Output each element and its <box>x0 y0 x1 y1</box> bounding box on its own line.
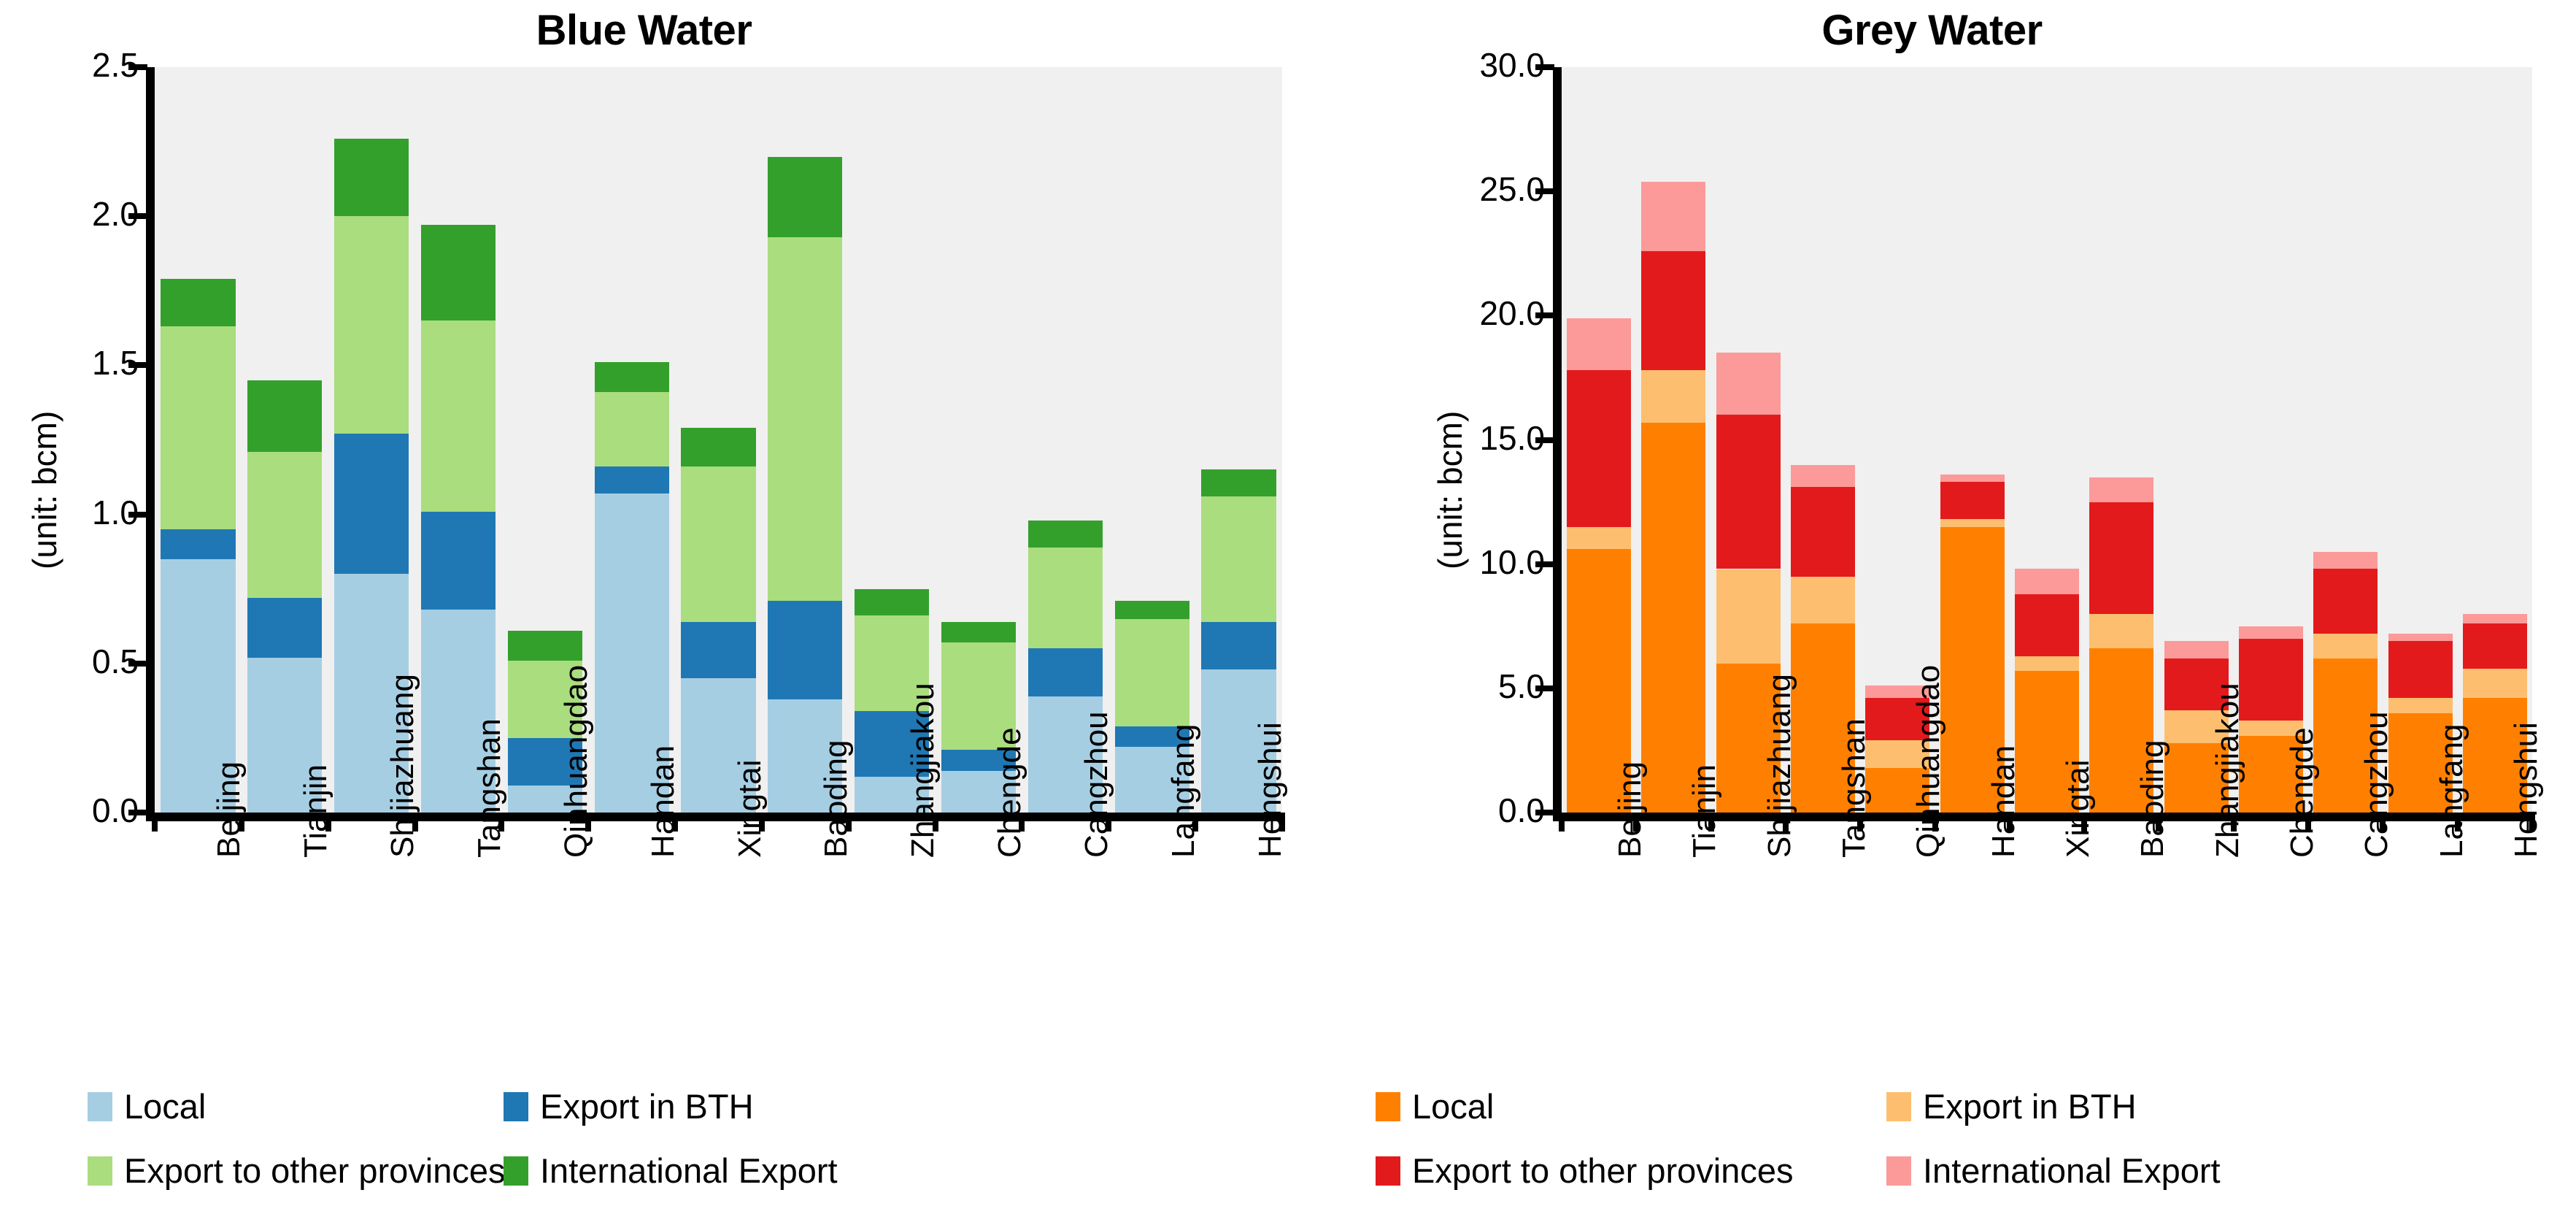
chart-title-blue-water: Blue Water <box>0 6 1288 55</box>
bar-beijing[interactable] <box>161 67 235 813</box>
x-axis-label-cangzhou: Cangzhou <box>1079 711 1115 858</box>
x-axis-label-baoding: Baoding <box>818 740 855 858</box>
bar-segment-international-export[interactable] <box>421 225 495 320</box>
x-axis-label-qinhuangdao: Qinhuangdao <box>558 665 595 858</box>
bar-hengshui[interactable] <box>1201 67 1276 813</box>
bar-tianjin[interactable] <box>247 67 322 813</box>
bar-segment-international-export[interactable] <box>1641 182 1705 251</box>
legend-label: Local <box>124 1089 206 1124</box>
x-axis-label-langfang: Langfang <box>2434 723 2470 858</box>
y-axis-tick-label: 2.0 <box>0 194 139 234</box>
bar-segment-international-export[interactable] <box>855 589 929 616</box>
legend-label: Export to other provinces <box>1412 1153 1794 1188</box>
bar-segment-export-in-bth[interactable] <box>1567 527 1631 550</box>
bar-segment-export-in-bth[interactable] <box>247 598 322 658</box>
bar-xingtai[interactable] <box>2015 67 2079 813</box>
bar-segment-international-export[interactable] <box>2089 477 2153 502</box>
x-axis-label-tianjin: Tianjin <box>298 764 334 858</box>
legend-label: Export in BTH <box>1923 1089 2137 1124</box>
x-axis-label-tianjin: Tianjin <box>1686 764 1723 858</box>
y-axis-spine <box>146 67 155 821</box>
legend-swatch-icon <box>1886 1156 1911 1186</box>
bar-segment-export-in-bth[interactable] <box>595 466 669 494</box>
x-axis-label-hengshui: Hengshui <box>1252 722 1289 858</box>
figure-root: Blue Water (unit: bcm) 0.00.51.01.52.02.… <box>0 0 2576 1225</box>
bar-segment-export-to-other-provinces[interactable] <box>1716 415 1781 569</box>
bar-segment-international-export[interactable] <box>2463 614 2527 624</box>
x-axis-label-qinhuangdao: Qinhuangdao <box>1910 665 1947 858</box>
bar-segment-export-to-other-provinces[interactable] <box>247 452 322 598</box>
y-axis-tick-label: 1.0 <box>0 493 139 532</box>
bar-segment-export-to-other-provinces[interactable] <box>161 326 235 529</box>
bar-segment-export-to-other-provinces[interactable] <box>421 320 495 511</box>
y-axis-tick-label: 5.0 <box>1326 667 1545 706</box>
legend-swatch-icon <box>1376 1156 1400 1186</box>
x-axis-label-chengde: Chengde <box>2284 727 2321 858</box>
x-axis-label-cangzhou: Cangzhou <box>2359 711 2395 858</box>
bar-segment-local[interactable] <box>1641 423 1705 813</box>
bar-segment-export-in-bth[interactable] <box>1028 648 1103 696</box>
y-axis-spine <box>1553 67 1562 821</box>
bar-segment-export-in-bth[interactable] <box>768 601 842 699</box>
bar-segment-export-to-other-provinces[interactable] <box>1791 487 1855 577</box>
bar-cangzhou[interactable] <box>1028 67 1103 813</box>
legend-item-local[interactable]: Local <box>1376 1089 1494 1124</box>
bar-segment-export-to-other-provinces[interactable] <box>2313 569 2378 633</box>
bar-segment-export-to-other-provinces[interactable] <box>2089 502 2153 614</box>
chart-panel-blue-water: Blue Water (unit: bcm) 0.00.51.01.52.02.… <box>0 0 1288 1225</box>
bar-segment-export-in-bth[interactable] <box>2089 614 2153 649</box>
legend-item-export-to-other-provinces[interactable]: Export to other provinces <box>1376 1153 1794 1188</box>
x-axis-label-xingtai: Xingtai <box>2060 759 2097 858</box>
bar-segment-international-export[interactable] <box>941 622 1016 643</box>
x-axis-label-zhangjiakou: Zhangjiakou <box>2210 683 2246 858</box>
bar-chengde[interactable] <box>941 67 1016 813</box>
legend-swatch-icon <box>88 1092 112 1121</box>
x-axis-label-shijiazhuang: Shijiazhuang <box>1762 674 1798 858</box>
bar-segment-export-in-bth[interactable] <box>1940 519 2005 526</box>
bar-handan[interactable] <box>595 67 669 813</box>
bar-segment-international-export[interactable] <box>681 428 755 466</box>
bar-segment-export-in-bth[interactable] <box>1791 577 1855 624</box>
bar-segment-international-export[interactable] <box>334 139 409 216</box>
bar-baoding[interactable] <box>2089 67 2153 813</box>
bar-segment-export-to-other-provinces[interactable] <box>1115 619 1189 726</box>
bar-segment-export-in-bth[interactable] <box>1201 622 1276 669</box>
x-axis-label-tangshan: Tangshan <box>1836 718 1873 858</box>
bar-segment-international-export[interactable] <box>508 631 582 661</box>
y-axis-tick-label: 0.0 <box>0 791 139 830</box>
y-axis-tick-label: 10.0 <box>1326 542 1545 582</box>
legend-item-export-to-other-provinces[interactable]: Export to other provinces <box>88 1153 506 1188</box>
legend-item-export-in-bth[interactable]: Export in BTH <box>504 1089 754 1124</box>
x-axis-label-beijing: Beijing <box>1612 761 1648 858</box>
bar-segment-international-export[interactable] <box>2313 552 2378 569</box>
y-axis-tick-label: 25.0 <box>1326 169 1545 209</box>
bar-segment-international-export[interactable] <box>2015 569 2079 594</box>
legend-item-local[interactable]: Local <box>88 1089 206 1124</box>
x-axis-label-hengshui: Hengshui <box>2508 722 2545 858</box>
bar-segment-export-to-other-provinces[interactable] <box>681 466 755 621</box>
bar-beijing[interactable] <box>1567 67 1631 813</box>
bar-segment-export-to-other-provinces[interactable] <box>1940 482 2005 519</box>
y-axis-tick-label: 30.0 <box>1326 45 1545 85</box>
bar-segment-international-export[interactable] <box>1201 469 1276 496</box>
bar-xingtai[interactable] <box>681 67 755 813</box>
bar-chengde[interactable] <box>2239 67 2303 813</box>
x-axis-label-zhangjiakou: Zhangjiakou <box>905 683 941 858</box>
y-axis-tick-label: 15.0 <box>1326 418 1545 458</box>
bar-segment-international-export[interactable] <box>1115 601 1189 619</box>
bar-segment-export-in-bth[interactable] <box>421 512 495 610</box>
bar-langfang[interactable] <box>1115 67 1189 813</box>
chart-panel-grey-water: Grey Water (unit: bcm) 0.05.010.015.020.… <box>1288 0 2576 1225</box>
y-axis-tick-label: 0.5 <box>0 642 139 681</box>
y-axis-label-blue-water: (unit: bcm) <box>25 411 64 569</box>
bar-segment-export-in-bth[interactable] <box>1716 569 1781 664</box>
bar-segment-export-to-other-provinces[interactable] <box>2239 639 2303 721</box>
bar-baoding[interactable] <box>768 67 842 813</box>
x-axis-label-beijing: Beijing <box>211 761 247 858</box>
legend-label: Export to other provinces <box>124 1153 506 1188</box>
x-axis-label-handan: Handan <box>645 745 682 858</box>
bar-segment-international-export[interactable] <box>595 362 669 392</box>
bar-segment-international-export[interactable] <box>768 157 842 237</box>
bar-segment-export-to-other-provinces[interactable] <box>1028 548 1103 649</box>
y-axis-tick-label: 2.5 <box>0 45 139 85</box>
bar-tianjin[interactable] <box>1641 67 1705 813</box>
bar-segment-international-export[interactable] <box>1940 475 2005 482</box>
bar-segment-export-in-bth[interactable] <box>334 434 409 574</box>
x-axis-label-chengde: Chengde <box>992 727 1028 858</box>
bar-cangzhou[interactable] <box>2313 67 2378 813</box>
bar-tangshan[interactable] <box>1791 67 1855 813</box>
bar-segment-export-to-other-provinces[interactable] <box>1641 251 1705 370</box>
bar-langfang[interactable] <box>2388 67 2453 813</box>
bar-segment-export-to-other-provinces[interactable] <box>595 392 669 466</box>
y-axis-tick-label: 1.5 <box>0 343 139 383</box>
bar-segment-international-export[interactable] <box>1567 318 1631 370</box>
bar-segment-international-export[interactable] <box>1716 353 1781 415</box>
x-axis-tick <box>152 813 158 832</box>
y-axis-tick-label: 0.0 <box>1326 791 1545 830</box>
legend-label: International Export <box>540 1153 838 1188</box>
bar-segment-export-in-bth[interactable] <box>2388 698 2453 713</box>
bar-segment-export-in-bth[interactable] <box>681 622 755 679</box>
x-axis-label-langfang: Langfang <box>1165 723 1202 858</box>
bar-segment-export-in-bth[interactable] <box>2313 634 2378 658</box>
bar-segment-export-in-bth[interactable] <box>2463 669 2527 699</box>
bar-segment-international-export[interactable] <box>247 380 322 452</box>
legend-item-international-export[interactable]: International Export <box>504 1153 838 1188</box>
x-axis-label-xingtai: Xingtai <box>732 759 768 858</box>
bar-segment-international-export[interactable] <box>1791 465 1855 488</box>
x-axis-tick <box>1559 813 1565 832</box>
bar-segment-export-to-other-provinces[interactable] <box>2388 641 2453 698</box>
legend-swatch-icon <box>504 1156 528 1186</box>
bar-segment-export-to-other-provinces[interactable] <box>1201 496 1276 622</box>
x-axis-label-baoding: Baoding <box>2135 740 2171 858</box>
y-axis-tick-label: 20.0 <box>1326 293 1545 333</box>
bar-segment-export-in-bth[interactable] <box>2015 656 2079 671</box>
legend-item-international-export[interactable]: International Export <box>1886 1153 2221 1188</box>
bar-segment-export-in-bth[interactable] <box>161 529 235 559</box>
legend-swatch-icon <box>504 1092 528 1121</box>
x-axis-label-shijiazhuang: Shijiazhuang <box>385 674 421 858</box>
bar-segment-export-to-other-provinces[interactable] <box>1567 370 1631 526</box>
bar-segment-export-in-bth[interactable] <box>1641 370 1705 422</box>
bar-segment-export-to-other-provinces[interactable] <box>334 216 409 434</box>
legend-label: International Export <box>1923 1153 2221 1188</box>
legend-swatch-icon <box>1376 1092 1400 1121</box>
bar-hengshui[interactable] <box>2463 67 2527 813</box>
bar-handan[interactable] <box>1940 67 2005 813</box>
bar-tangshan[interactable] <box>421 67 495 813</box>
bar-segment-export-to-other-provinces[interactable] <box>768 237 842 601</box>
bar-segment-international-export[interactable] <box>1028 521 1103 548</box>
bar-segment-export-to-other-provinces[interactable] <box>2463 623 2527 668</box>
bar-segment-international-export[interactable] <box>2164 641 2229 658</box>
bar-segment-international-export[interactable] <box>2388 634 2453 641</box>
bar-segment-export-to-other-provinces[interactable] <box>2015 594 2079 656</box>
legend-swatch-icon <box>1886 1092 1911 1121</box>
legend-label: Local <box>1412 1089 1494 1124</box>
x-axis-label-tangshan: Tangshan <box>471 718 508 858</box>
bar-segment-international-export[interactable] <box>161 279 235 326</box>
bar-segment-international-export[interactable] <box>2239 626 2303 639</box>
legend-item-export-in-bth[interactable]: Export in BTH <box>1886 1089 2137 1124</box>
legend-label: Export in BTH <box>540 1089 754 1124</box>
legend-swatch-icon <box>88 1156 112 1186</box>
x-axis-label-handan: Handan <box>1986 745 2022 858</box>
